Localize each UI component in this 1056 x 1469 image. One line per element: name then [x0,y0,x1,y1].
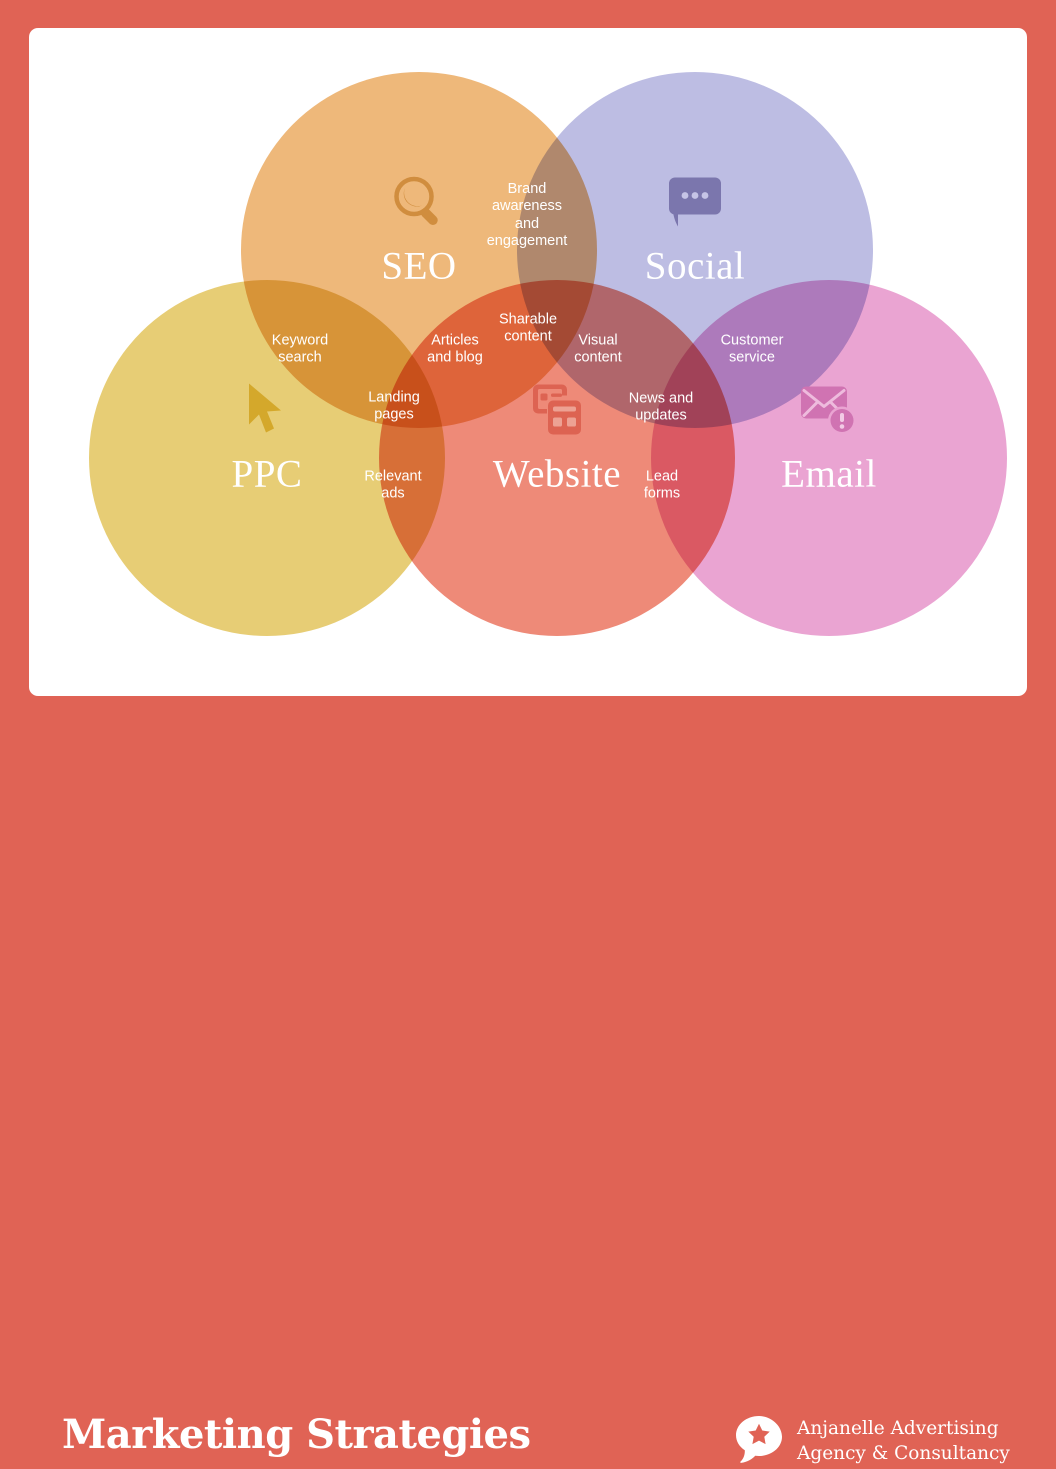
poster-root: SEOSocialPPCWebsiteEmailBrand awareness … [0,0,1056,816]
poster-footer: Marketing Strategies Anjanelle Advertisi… [0,696,1056,816]
brand-lockup: Anjanelle Advertising Agency & Consultan… [735,1414,1010,1469]
page-title: Marketing Strategies [62,1415,531,1455]
speech-bubble-star-icon [735,1414,783,1469]
venn-diagram-card: SEOSocialPPCWebsiteEmailBrand awareness … [29,28,1027,696]
venn-diagram-svg [29,28,1027,696]
brand-name: Anjanelle Advertising Agency & Consultan… [797,1417,1010,1466]
venn-circle-email [651,280,1007,636]
